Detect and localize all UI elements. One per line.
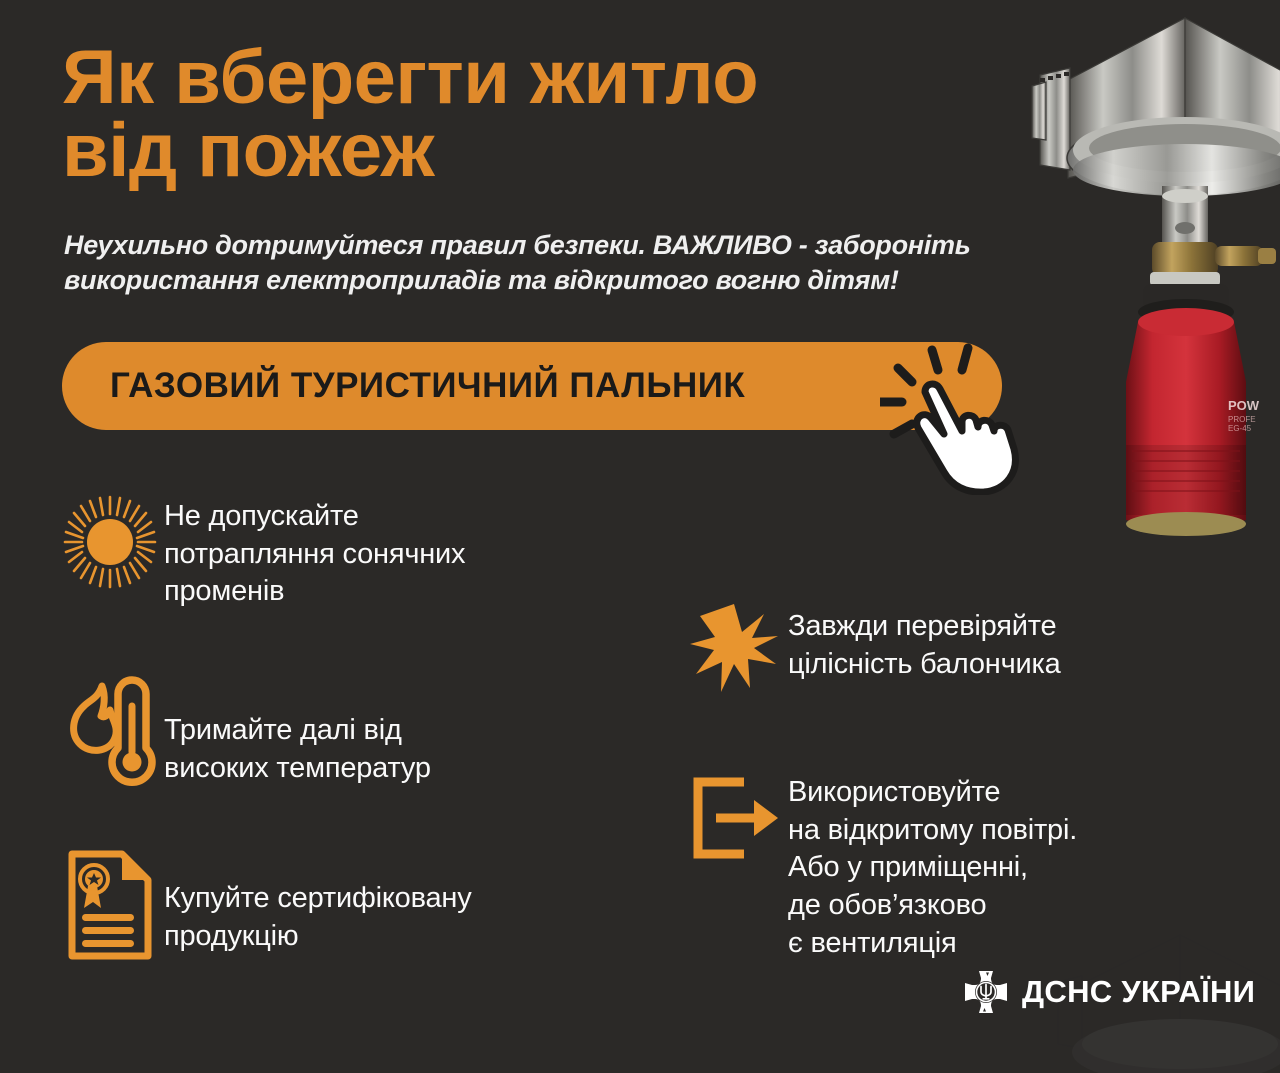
page-subtitle: Неухильно дотримуйтеся правил безпеки. В… [64,228,1104,297]
tip-icon-wrap [680,772,788,864]
explosion-burst-icon [688,602,780,694]
tip-icon-wrap [56,846,164,964]
tip-item-ventilation: Використовуйте на відкритому повітрі. Аб… [680,772,1240,962]
tip-text-temperature: Тримайте далі від високих температур [164,672,431,787]
page-title: Як вберегти житло від пожеж [62,42,962,188]
flame-thermometer-icon [60,672,160,787]
tip-text-ventilation: Використовуйте на відкритому повітрі. Аб… [788,772,1077,962]
svg-text:PROFE: PROFE [1228,415,1256,424]
tip-item-certificate: Купуйте сертифіковану продукцію [56,846,616,964]
infographic-poster: POW PROFE EG-45 Як вберегти житло від по… [0,0,1280,1073]
tip-icon-wrap [680,602,788,694]
footer-logo-label: ДСНС УКРАЇНИ [1022,974,1255,1010]
topic-banner-label: ГАЗОВИЙ ТУРИСТИЧНИЙ ПАЛЬНИК [110,366,745,406]
tip-icon-wrap [56,492,164,592]
dsns-cross-emblem-icon [962,968,1010,1016]
sun-icon [60,492,160,592]
tip-item-sun: Не допускайте потрапляння сонячних проме… [56,492,616,611]
footer-logo: ДСНС УКРАЇНИ [962,968,1255,1016]
tip-text-certificate: Купуйте сертифіковану продукцію [164,846,472,955]
exit-arrow-icon [686,772,782,864]
tip-item-temperature: Тримайте далі від високих температур [56,672,616,787]
svg-text:POW: POW [1228,398,1260,413]
tip-text-sun: Не допускайте потрапляння сонячних проме… [164,492,465,611]
tip-text-integrity: Завжди перевіряйте цілісність балончика [788,602,1061,683]
certificate-document-icon [60,846,160,964]
svg-text:EG-45: EG-45 [1228,424,1252,433]
tip-icon-wrap [56,672,164,787]
topic-banner[interactable]: ГАЗОВИЙ ТУРИСТИЧНИЙ ПАЛЬНИК [62,342,1002,430]
tip-item-integrity: Завжди перевіряйте цілісність балончика [680,602,1240,694]
